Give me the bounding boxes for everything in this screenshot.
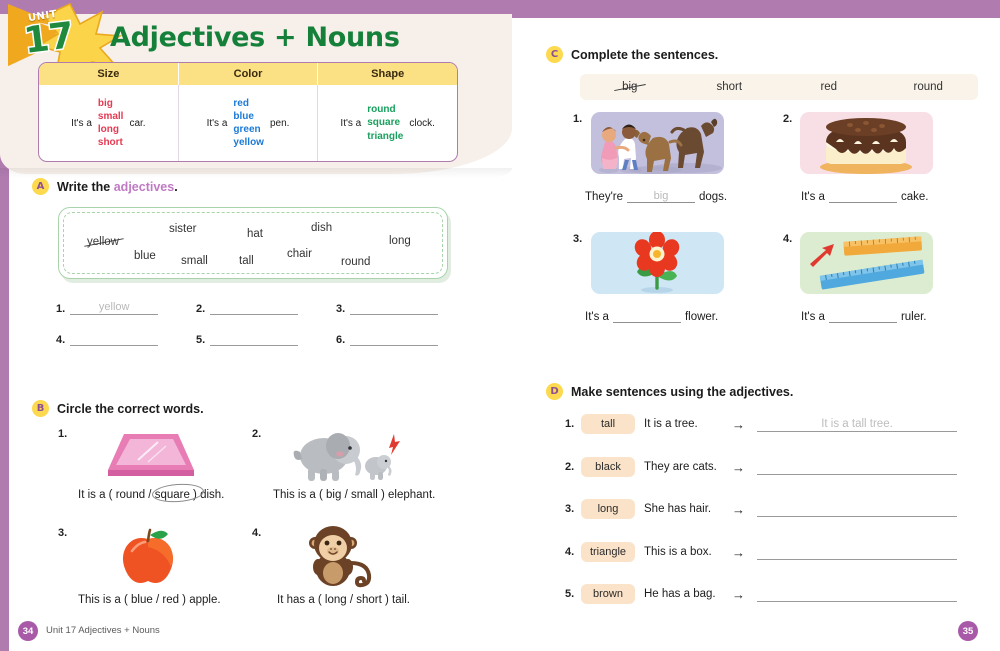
section-b-number-1: 1. <box>58 428 67 440</box>
answer-line[interactable] <box>350 331 438 346</box>
word-bank-item[interactable]: chair <box>287 248 312 260</box>
caption-prefix: It's a <box>801 311 825 323</box>
section-d-row-4[interactable]: 4. triangle This is a box. → <box>565 542 957 562</box>
section-a-answer-4[interactable]: 4. <box>56 331 158 346</box>
grammar-table: Size Color Shape It's a big small long s… <box>38 62 458 162</box>
color-word: blue <box>233 110 264 123</box>
section-a-title-highlight: adjectives <box>114 180 174 194</box>
color-word: green <box>233 123 264 136</box>
word-bank-item[interactable]: long <box>389 235 411 247</box>
apple-illustration <box>112 527 184 590</box>
size-word: long <box>98 123 124 136</box>
caption-blank[interactable] <box>829 189 897 203</box>
row-number: 4. <box>565 546 581 558</box>
base-sentence: It is a tree. <box>644 418 730 430</box>
section-b-caption-3: This is a ( blue / red ) apple. <box>78 594 221 606</box>
section-c-number-2: 2. <box>783 113 792 125</box>
caption-suffix: cake. <box>901 191 929 203</box>
section-a-word-bank: yellow sister blue hat small tall dish c… <box>58 207 448 279</box>
shape-word: round <box>367 103 403 116</box>
section-a-answer-6[interactable]: 6. <box>336 331 438 346</box>
flower-photo <box>591 232 724 294</box>
shape-noun-text: clock. <box>409 118 435 129</box>
section-b-caption-4: It has a ( long / short ) tail. <box>277 594 410 606</box>
section-b-number-3: 3. <box>58 527 67 539</box>
answer-line[interactable] <box>757 587 957 602</box>
size-noun-text: car. <box>129 118 145 129</box>
base-sentence: They are cats. <box>644 461 730 473</box>
adjective-chip[interactable]: long <box>581 499 635 519</box>
base-sentence: This is a box. <box>644 546 730 558</box>
section-b-caption-2: This is a ( big / small ) elephant. <box>273 489 435 501</box>
ruler-photo <box>800 232 933 294</box>
size-word: small <box>98 110 124 123</box>
c-word-bank-item[interactable]: round <box>879 81 979 93</box>
shape-word: square <box>367 116 403 129</box>
answer-number: 6. <box>336 334 345 346</box>
section-c-caption-1: They're big dogs. <box>585 189 727 203</box>
section-a-answer-5[interactable]: 5. <box>196 331 298 346</box>
word-bank-item[interactable]: yellow <box>87 236 119 248</box>
caption-prefix: They're <box>585 191 623 203</box>
answer-line[interactable]: yellow <box>70 300 158 315</box>
section-a-title-end: . <box>174 180 177 194</box>
caption-prefix: It's a <box>585 311 609 323</box>
caption-blank[interactable] <box>829 309 897 323</box>
section-c-number-1: 1. <box>573 113 582 125</box>
row-number: 1. <box>565 418 581 430</box>
adjective-chip[interactable]: tall <box>581 414 635 434</box>
caption-suffix: flower. <box>685 311 718 323</box>
word-bank-item[interactable]: blue <box>134 250 156 262</box>
answer-line[interactable] <box>757 545 957 560</box>
word-bank-item[interactable]: hat <box>247 228 263 240</box>
section-b-badge: B <box>32 400 49 417</box>
section-d-row-1[interactable]: 1. tall It is a tree. → It is a tall tre… <box>565 414 957 434</box>
caption-blank[interactable]: big <box>627 189 695 203</box>
section-a-header: A Write the adjectives. <box>32 178 178 195</box>
section-d-row-5[interactable]: 5. brown He has a bag. → <box>565 584 957 604</box>
section-c-number-3: 3. <box>573 233 582 245</box>
section-d-row-3[interactable]: 3. long She has hair. → <box>565 499 957 519</box>
adjective-chip[interactable]: triangle <box>581 542 635 562</box>
arrow-icon: → <box>732 587 745 602</box>
color-noun-text: pen. <box>270 118 289 129</box>
size-word: short <box>98 136 124 149</box>
dish-illustration <box>100 430 196 487</box>
section-d-row-2[interactable]: 2. black They are cats. → <box>565 457 957 477</box>
adjective-chip[interactable]: black <box>581 457 635 477</box>
color-word-list: red blue green yellow <box>233 97 264 150</box>
arrow-icon: → <box>732 460 745 475</box>
grammar-cell-color: It's a red blue green yellow pen. <box>178 85 318 161</box>
row-number: 5. <box>565 588 581 600</box>
section-c-badge: C <box>546 46 563 63</box>
section-a-answer-1[interactable]: 1. yellow <box>56 300 158 315</box>
row-number: 3. <box>565 503 581 515</box>
word-bank-item[interactable]: small <box>181 255 208 267</box>
answer-number: 4. <box>56 334 65 346</box>
c-word-bank-item[interactable]: red <box>779 81 879 93</box>
answer-line[interactable] <box>210 331 298 346</box>
grammar-table-header-row: Size Color Shape <box>39 63 457 85</box>
answer-number: 5. <box>196 334 205 346</box>
row-number: 2. <box>565 461 581 473</box>
worksheet-page: UNIT 17 Adjectives + Nouns Size Color Sh… <box>0 0 1000 651</box>
section-a-answer-3[interactable]: 3. <box>336 300 438 315</box>
cake-photo <box>800 112 933 174</box>
monkey-illustration <box>305 523 381 594</box>
answer-number: 2. <box>196 303 205 315</box>
section-b-header: B Circle the correct words. <box>32 400 204 417</box>
shape-word: triangle <box>367 130 403 143</box>
caption-suffix: dogs. <box>699 191 727 203</box>
answer-line[interactable] <box>70 331 158 346</box>
section-b-number-4: 4. <box>252 527 261 539</box>
right-page-number: 35 <box>958 621 978 641</box>
unit-number: 17 <box>22 15 77 62</box>
shape-lead-text: It's a <box>340 118 361 129</box>
grammar-col-header-color: Color <box>178 63 318 85</box>
page-title: Adjectives + Nouns <box>110 22 400 53</box>
size-word-list: big small long short <box>98 97 124 150</box>
caption-suffix: ruler. <box>901 311 927 323</box>
section-c-header: C Complete the sentences. <box>546 46 718 63</box>
section-d-header: D Make sentences using the adjectives. <box>546 383 793 400</box>
answer-number: 3. <box>336 303 345 315</box>
word-bank-item[interactable]: round <box>341 256 370 268</box>
adjective-chip[interactable]: brown <box>581 584 635 604</box>
dogs-photo <box>591 112 724 174</box>
grammar-table-body: It's a big small long short car. It's a … <box>39 85 457 161</box>
section-a-answer-2[interactable]: 2. <box>196 300 298 315</box>
word-bank-item[interactable]: dish <box>311 222 332 234</box>
answer-line[interactable] <box>757 502 957 517</box>
answer-number: 1. <box>56 303 65 315</box>
arrow-icon: → <box>732 545 745 560</box>
left-page-number: 34 <box>18 621 38 641</box>
caption-blank[interactable] <box>613 309 681 323</box>
c-word-bank-item[interactable]: big <box>580 81 680 93</box>
word-bank-item[interactable]: sister <box>169 223 196 235</box>
grammar-cell-size: It's a big small long short car. <box>39 85 178 161</box>
footer-unit-text: Unit 17 Adjectives + Nouns <box>46 625 160 636</box>
c-word-bank-item[interactable]: short <box>680 81 780 93</box>
word-bank-item[interactable]: tall <box>239 255 254 267</box>
color-lead-text: It's a <box>207 118 228 129</box>
section-b-number-2: 2. <box>252 428 261 440</box>
section-a-badge: A <box>32 178 49 195</box>
section-c-number-4: 4. <box>783 233 792 245</box>
grammar-col-header-size: Size <box>39 63 178 85</box>
arrow-icon: → <box>732 417 745 432</box>
answer-line[interactable] <box>210 300 298 315</box>
section-c-word-bank: big short red round <box>580 74 978 100</box>
section-d-title: Make sentences using the adjectives. <box>571 385 793 399</box>
color-word: yellow <box>233 136 264 149</box>
section-c-caption-4: It's a ruler. <box>801 309 927 323</box>
elephant-illustration <box>290 428 400 489</box>
section-b-title: Circle the correct words. <box>57 402 204 416</box>
base-sentence: He has a bag. <box>644 588 730 600</box>
size-lead-text: It's a <box>71 118 92 129</box>
color-word: red <box>233 97 264 110</box>
section-a-title: Write the adjectives. <box>57 180 178 194</box>
section-a-title-plain: Write the <box>57 180 114 194</box>
section-d-badge: D <box>546 383 563 400</box>
answer-line[interactable] <box>350 300 438 315</box>
caption-prefix: It's a <box>801 191 825 203</box>
size-word: big <box>98 97 124 110</box>
section-c-caption-3: It's a flower. <box>585 309 718 323</box>
section-c-title: Complete the sentences. <box>571 48 718 62</box>
section-c-caption-2: It's a cake. <box>801 189 928 203</box>
answer-line[interactable]: It is a tall tree. <box>757 417 957 432</box>
arrow-icon: → <box>732 502 745 517</box>
grammar-cell-shape: It's a round square triangle clock. <box>317 85 457 161</box>
base-sentence: She has hair. <box>644 503 730 515</box>
shape-word-list: round square triangle <box>367 103 403 143</box>
answer-line[interactable] <box>757 460 957 475</box>
grammar-col-header-shape: Shape <box>317 63 457 85</box>
